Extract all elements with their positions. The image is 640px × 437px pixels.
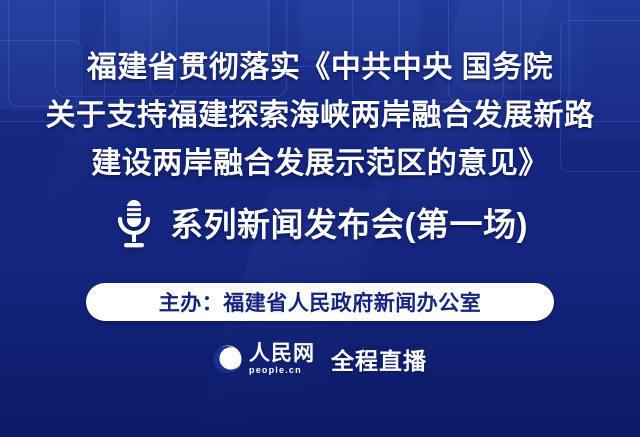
people-cn-logo: 人民网 people.cn bbox=[213, 343, 315, 375]
host-badge-label: 主办：福建省人民政府新闻办公室 bbox=[159, 287, 482, 317]
microphone-icon bbox=[112, 198, 156, 250]
host-badge: 主办：福建省人民政府新闻办公室 bbox=[86, 283, 554, 321]
brand-name-latin: people.cn bbox=[249, 366, 302, 375]
title-line-2: 关于支持福建探索海峡两岸融合发展新路 bbox=[0, 92, 640, 140]
title-line-1: 福建省贯彻落实《中共中央 国务院 bbox=[0, 44, 640, 92]
live-broadcast-label: 全程直播 bbox=[331, 342, 427, 376]
poster-title: 福建省贯彻落实《中共中央 国务院 关于支持福建探索海峡两岸融合发展新路 建设两岸… bbox=[0, 44, 640, 188]
people-cn-wordmark: 人民网 people.cn bbox=[249, 343, 315, 375]
series-heading: 系列新闻发布会(第一场) bbox=[0, 198, 640, 250]
title-line-3: 建设两岸融合发展示范区的意见》 bbox=[0, 140, 640, 188]
press-conference-poster: 福建省贯彻落实《中共中央 国务院 关于支持福建探索海峡两岸融合发展新路 建设两岸… bbox=[0, 0, 640, 437]
poster-content: 福建省贯彻落实《中共中央 国务院 关于支持福建探索海峡两岸融合发展新路 建设两岸… bbox=[0, 0, 640, 437]
footer: 人民网 people.cn 全程直播 bbox=[0, 342, 640, 376]
people-cn-globe-icon bbox=[213, 344, 243, 374]
brand-name-cn: 人民网 bbox=[249, 343, 315, 364]
series-text: 系列新闻发布会(第一场) bbox=[170, 208, 528, 241]
